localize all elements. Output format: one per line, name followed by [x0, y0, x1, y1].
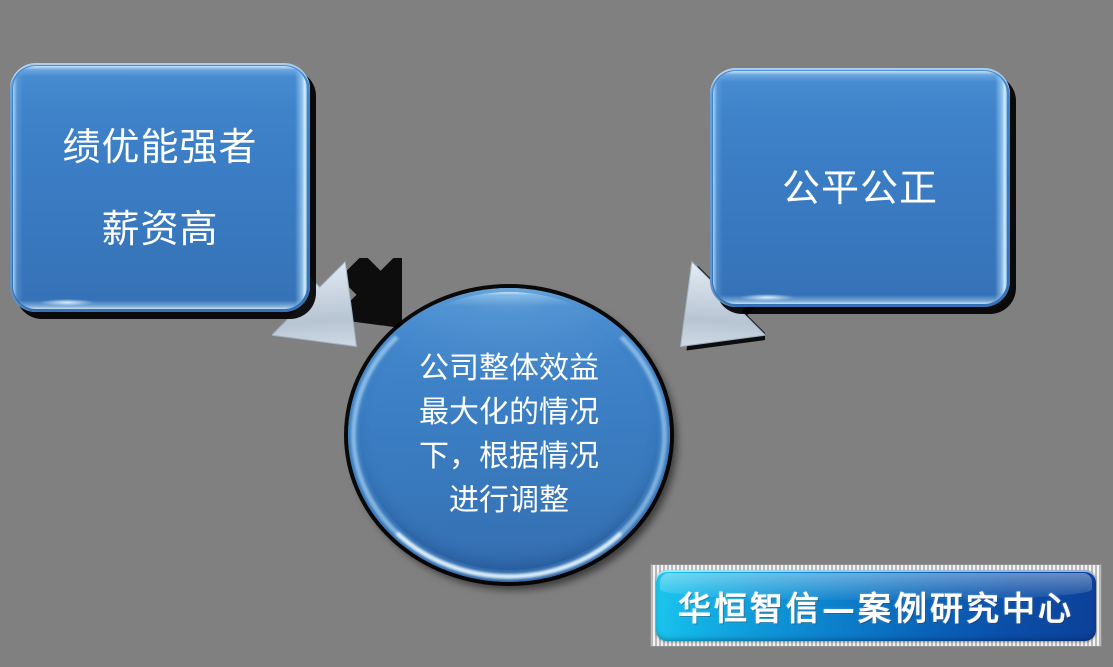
brand-banner[interactable]: 华恒智信—案例研究中心: [656, 570, 1096, 641]
merit-pay-box-line-1: 绩优能强者: [62, 128, 257, 166]
brand-banner-label: 华恒智信—案例研究中心: [678, 582, 1074, 630]
fairness-box[interactable]: 公平公正: [710, 68, 1010, 307]
circle-line-3: 下，根据情况: [419, 435, 599, 479]
circle-line-1: 公司整体效益: [419, 347, 599, 391]
circle-line-2: 最大化的情况: [419, 391, 599, 435]
fairness-box-line-1: 公平公正: [782, 169, 938, 207]
slide-canvas: 绩优能强者 薪资高 公平公正: [0, 0, 1113, 667]
company-benefit-circle[interactable]: 公司整体效益 最大化的情况 下，根据情况 进行调整: [348, 288, 670, 582]
circle-line-4: 进行调整: [449, 479, 569, 523]
merit-pay-box-line-2: 薪资高: [101, 210, 218, 248]
merit-pay-box[interactable]: 绩优能强者 薪资高: [10, 63, 310, 312]
brand-banner-frame[interactable]: 华恒智信—案例研究中心: [650, 564, 1102, 647]
